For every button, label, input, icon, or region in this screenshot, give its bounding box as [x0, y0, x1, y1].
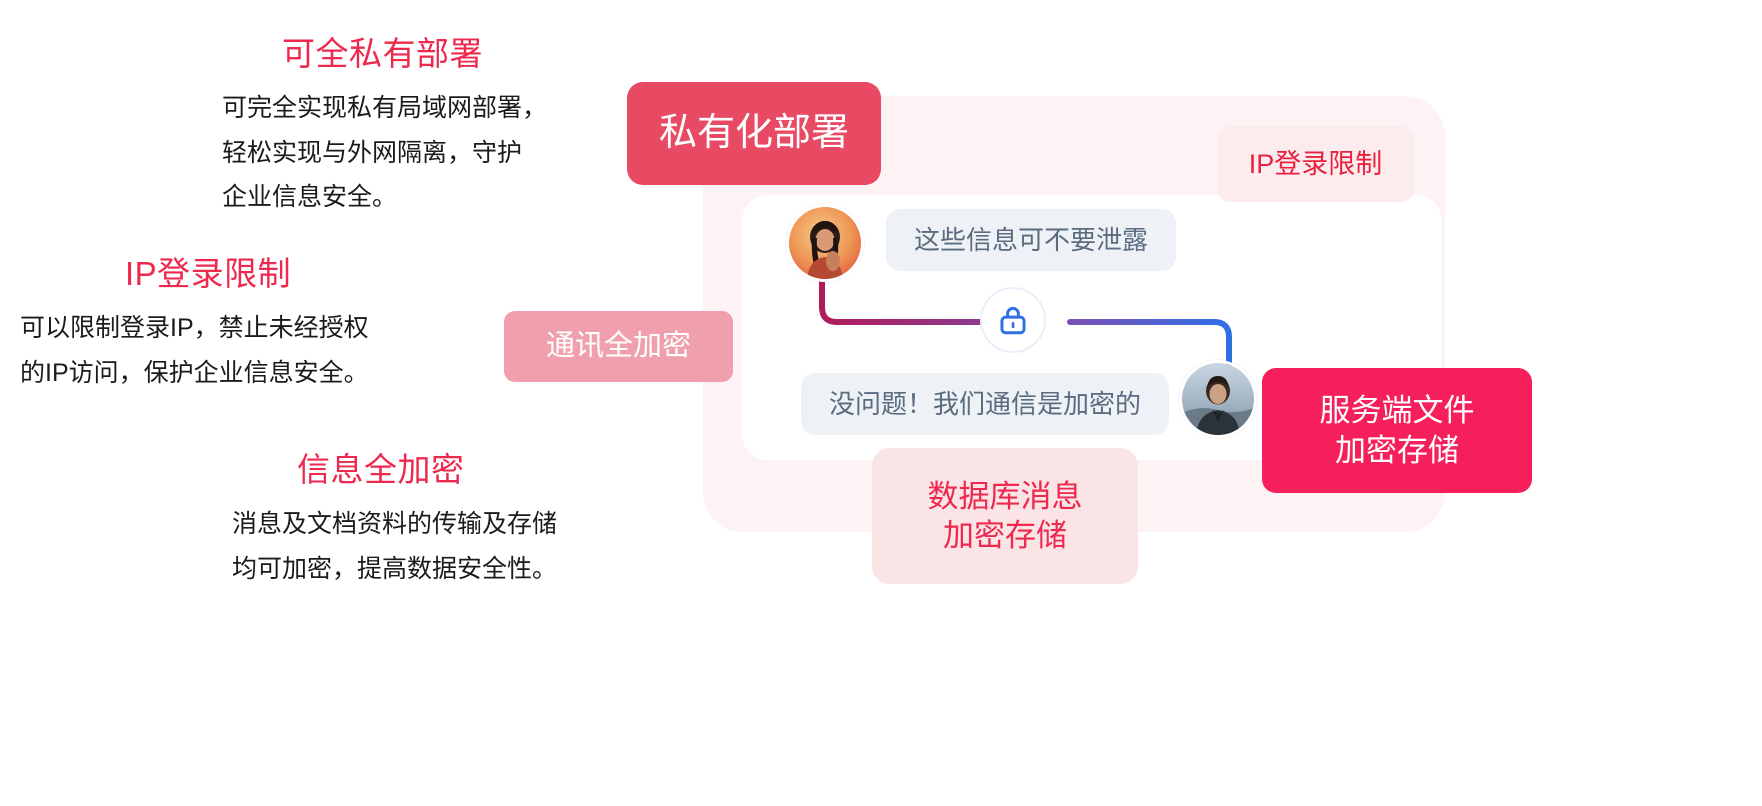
feature-title: IP登录限制	[125, 253, 369, 294]
chat-bubble-incoming[interactable]: 这些信息可不要泄露	[886, 209, 1176, 271]
feature-description-line: 的IP访问，保护企业信息安全。	[20, 351, 369, 396]
woman-portrait-avatar[interactable]	[786, 204, 864, 282]
tag-server-file-encryption[interactable]: 服务端文件 加密存储	[1262, 368, 1532, 493]
feature-description: 可完全实现私有局域网部署， 轻松实现与外网隔离，守护 企业信息安全。	[222, 86, 547, 220]
feature-title: 信息全加密	[297, 449, 557, 490]
feature-description-line: 可以限制登录IP，禁止未经授权	[20, 306, 369, 351]
feature-description-line: 均可加密，提高数据安全性。	[232, 547, 557, 592]
tag-private-deploy[interactable]: 私有化部署	[627, 82, 881, 185]
feature-description-line: 轻松实现与外网隔离，守护	[222, 131, 547, 176]
avatar-artwork	[789, 207, 861, 279]
feature-title: 可全私有部署	[282, 33, 547, 74]
tag-ip-login-limit[interactable]: IP登录限制	[1217, 126, 1414, 202]
feature-block-ip-limit: IP登录限制 可以限制登录IP，禁止未经授权 的IP访问，保护企业信息安全。	[20, 253, 369, 395]
tag-database-message-encryption[interactable]: 数据库消息 加密存储	[872, 448, 1138, 584]
feature-description-line: 消息及文档资料的传输及存储	[232, 502, 557, 547]
avatar-artwork	[1182, 363, 1254, 435]
tag-communication-encryption[interactable]: 通讯全加密	[504, 311, 733, 382]
feature-description-line: 企业信息安全。	[222, 175, 547, 220]
lock-badge	[980, 287, 1046, 353]
chat-bubble-outgoing[interactable]: 没问题！我们通信是加密的	[801, 373, 1169, 435]
feature-description-line: 可完全实现私有局域网部署，	[222, 86, 547, 131]
security-feature-illustration: 可全私有部署 可完全实现私有局域网部署， 轻松实现与外网隔离，守护 企业信息安全…	[0, 0, 1762, 806]
man-portrait-avatar[interactable]	[1179, 360, 1257, 438]
feature-block-full-encryption: 信息全加密 消息及文档资料的传输及存储 均可加密，提高数据安全性。	[232, 449, 557, 591]
feature-block-private-deploy: 可全私有部署 可完全实现私有局域网部署， 轻松实现与外网隔离，守护 企业信息安全…	[222, 33, 547, 220]
feature-description: 消息及文档资料的传输及存储 均可加密，提高数据安全性。	[232, 502, 557, 591]
feature-description: 可以限制登录IP，禁止未经授权 的IP访问，保护企业信息安全。	[20, 306, 369, 395]
lock-icon	[996, 303, 1030, 337]
